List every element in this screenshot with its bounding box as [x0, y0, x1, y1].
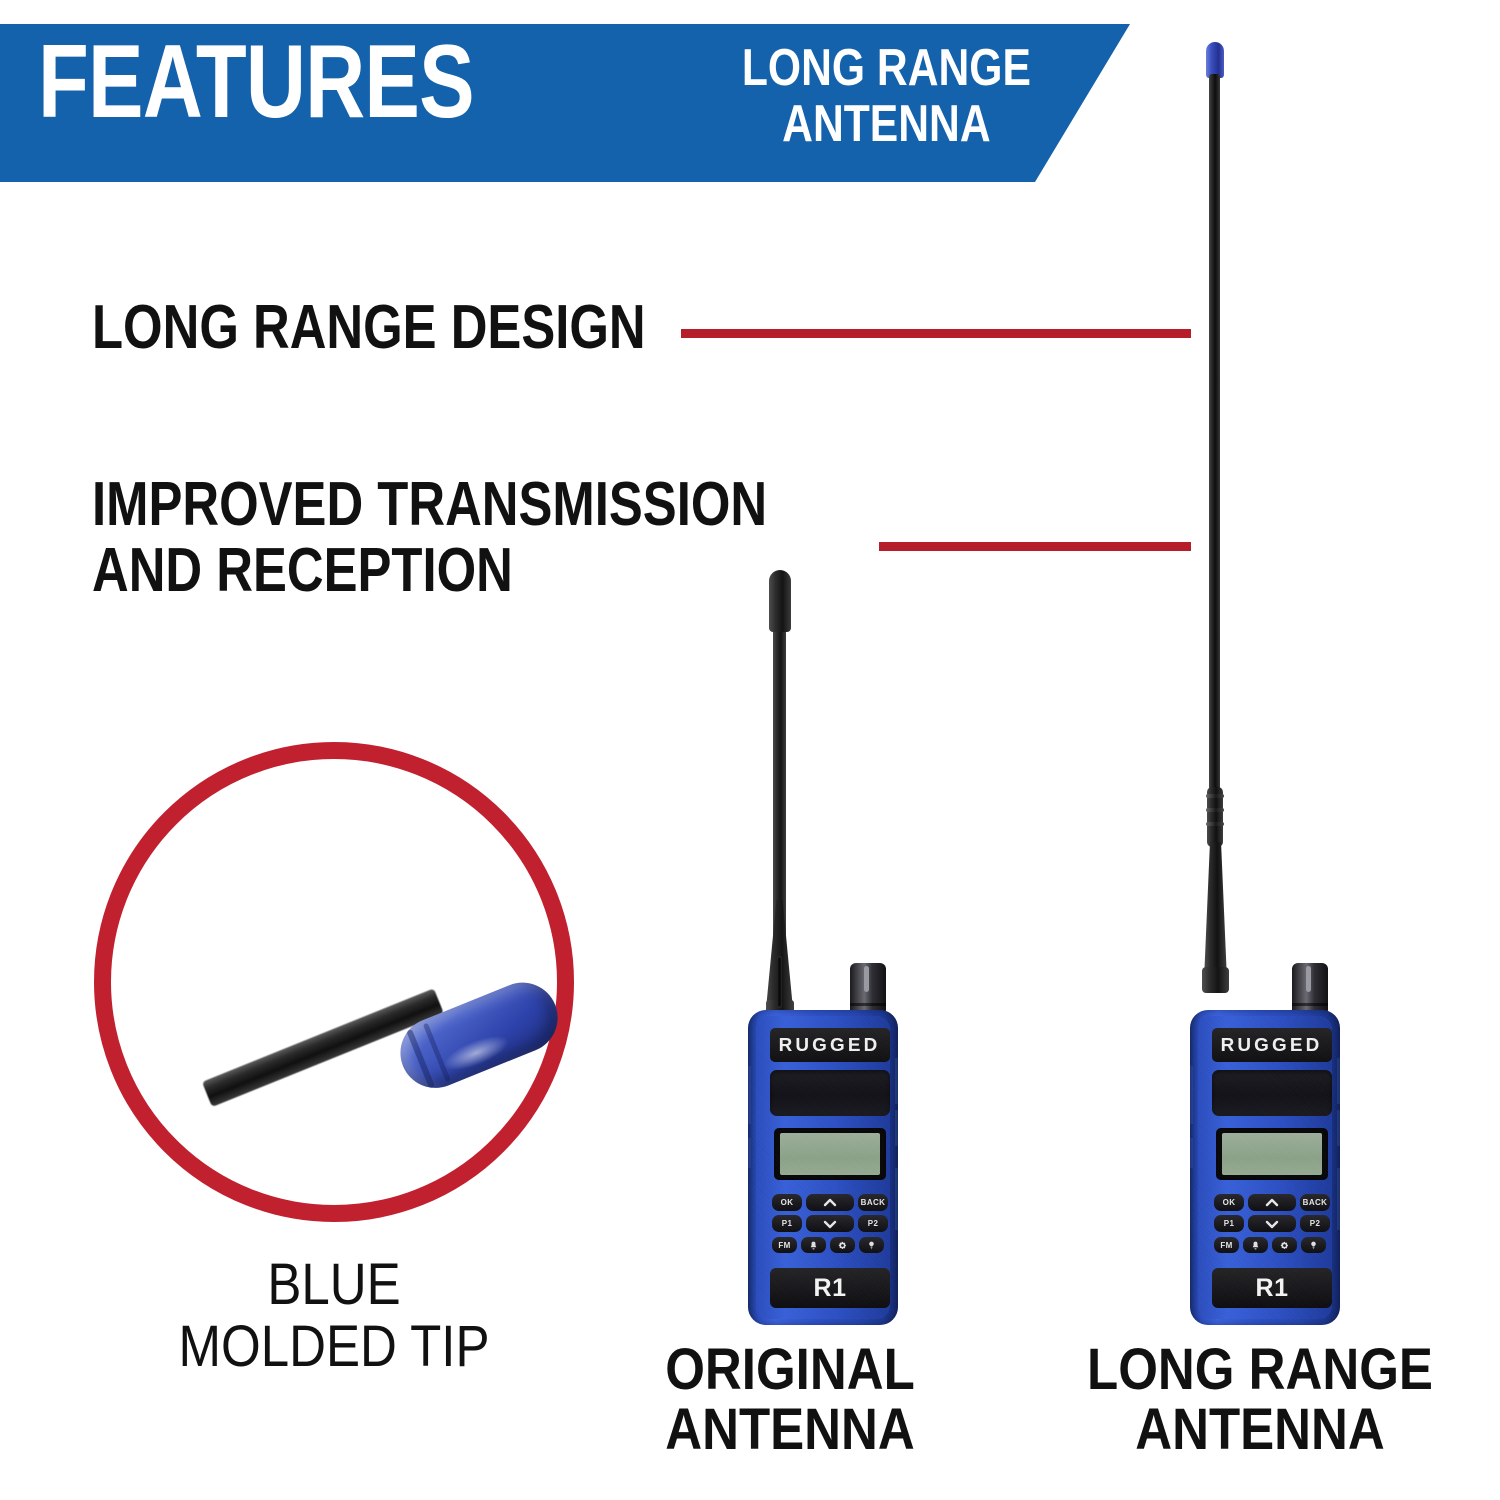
ptt-button-left[interactable] [1190, 1066, 1193, 1124]
key-settings[interactable] [830, 1237, 855, 1253]
brand-plate: RUGGED [1212, 1028, 1332, 1062]
side-button-left[interactable] [748, 1138, 751, 1168]
chevron-up-icon [822, 1195, 838, 1211]
side-button-right-1[interactable] [1337, 1058, 1340, 1104]
volume-knob-left[interactable] [850, 963, 886, 1013]
antenna-ring-3 [1206, 822, 1224, 826]
side-button-right-2[interactable] [1337, 1110, 1340, 1146]
bell-icon [1251, 1241, 1260, 1250]
model-plate: R1 [1212, 1268, 1332, 1308]
feature-label-long-range-design: LONG RANGE DESIGN [92, 296, 646, 360]
key-flashlight[interactable] [859, 1237, 884, 1253]
keypad: OK BACK P1 P2 FM [1212, 1194, 1332, 1258]
volume-knob-right[interactable] [1292, 963, 1328, 1013]
leader-line-1 [681, 329, 1191, 338]
leader-line-2 [879, 542, 1191, 551]
key-back[interactable]: BACK [858, 1194, 888, 1211]
antenna-rod [1209, 74, 1220, 809]
key-flashlight[interactable] [1301, 1237, 1326, 1253]
key-ok[interactable]: OK [772, 1194, 802, 1211]
key-back[interactable]: BACK [1300, 1194, 1330, 1211]
gear-icon [1280, 1241, 1289, 1250]
chevron-down-icon [822, 1216, 838, 1232]
blue-molded-tip-closeup [390, 972, 568, 1098]
callout-caption: BLUE MOLDED TIP [118, 1254, 551, 1378]
page-title: FEATURES [38, 34, 474, 130]
gear-icon [838, 1241, 847, 1250]
side-button-right-3[interactable] [1337, 1168, 1340, 1230]
antenna-cap [769, 570, 791, 632]
key-settings[interactable] [1272, 1237, 1297, 1253]
lcd-bezel [774, 1128, 886, 1180]
radio-original: RUGGED OK BACK P1 P2 FM [748, 1010, 898, 1325]
antenna-ring-1 [1206, 794, 1224, 798]
speaker-grille [1212, 1070, 1332, 1116]
key-p2[interactable]: P2 [858, 1215, 888, 1232]
brand-plate: RUGGED [770, 1028, 890, 1062]
detail-circle-callout [94, 742, 574, 1222]
keypad: OK BACK P1 P2 FM [770, 1194, 890, 1258]
side-button-right-3[interactable] [895, 1168, 898, 1230]
antenna-ring-2 [1206, 808, 1224, 812]
flashlight-icon [867, 1241, 876, 1250]
key-alarm[interactable] [1243, 1237, 1268, 1253]
radio-face: RUGGED OK BACK P1 P2 FM [1198, 1016, 1332, 1319]
key-ok[interactable]: OK [1214, 1194, 1244, 1211]
antenna-base-taper [1204, 842, 1227, 980]
side-button-left[interactable] [1190, 1138, 1193, 1168]
lcd-screen [780, 1133, 880, 1175]
long-range-antenna [1204, 42, 1227, 1012]
speaker-grille [770, 1070, 890, 1116]
model-label: R1 [1256, 1274, 1289, 1303]
key-up[interactable] [1248, 1194, 1296, 1211]
original-antenna [764, 570, 795, 1032]
ptt-button-left[interactable] [748, 1066, 751, 1124]
model-plate: R1 [770, 1268, 890, 1308]
key-fm[interactable]: FM [1214, 1237, 1239, 1253]
side-button-right-1[interactable] [895, 1058, 898, 1104]
feature-label-improved-transmission: IMPROVED TRANSMISSION AND RECEPTION [92, 472, 767, 604]
caption-original-antenna: ORIGINAL ANTENNA [623, 1340, 957, 1460]
model-label: R1 [814, 1274, 847, 1303]
key-p1[interactable]: P1 [772, 1215, 802, 1232]
brand-label: RUGGED [1221, 1035, 1323, 1056]
key-p1[interactable]: P1 [1214, 1215, 1244, 1232]
lcd-screen [1222, 1133, 1322, 1175]
caption-long-range-antenna: LONG RANGE ANTENNA [1066, 1340, 1453, 1460]
infographic-canvas: FEATURES LONG RANGE ANTENNA LONG RANGE D… [0, 0, 1500, 1500]
lcd-bezel [1216, 1128, 1328, 1180]
flashlight-icon [1309, 1241, 1318, 1250]
header-subtitle: LONG RANGE ANTENNA [706, 40, 1067, 152]
key-alarm[interactable] [801, 1237, 826, 1253]
side-button-right-2[interactable] [895, 1110, 898, 1146]
key-down[interactable] [806, 1215, 854, 1232]
chevron-up-icon [1264, 1195, 1280, 1211]
radio-long-range: RUGGED OK BACK P1 P2 FM [1190, 1010, 1340, 1325]
antenna-connector [1202, 967, 1229, 993]
brand-label: RUGGED [779, 1035, 881, 1056]
radio-face: RUGGED OK BACK P1 P2 FM [756, 1016, 890, 1319]
radio-body: RUGGED OK BACK P1 P2 FM [748, 1010, 898, 1325]
key-down[interactable] [1248, 1215, 1296, 1232]
bell-icon [809, 1241, 818, 1250]
key-up[interactable] [806, 1194, 854, 1211]
radio-body: RUGGED OK BACK P1 P2 FM [1190, 1010, 1340, 1325]
chevron-down-icon [1264, 1216, 1280, 1232]
antenna-slot [777, 956, 782, 1008]
blue-molded-tip [1206, 42, 1224, 78]
key-fm[interactable]: FM [772, 1237, 797, 1253]
key-p2[interactable]: P2 [1300, 1215, 1330, 1232]
